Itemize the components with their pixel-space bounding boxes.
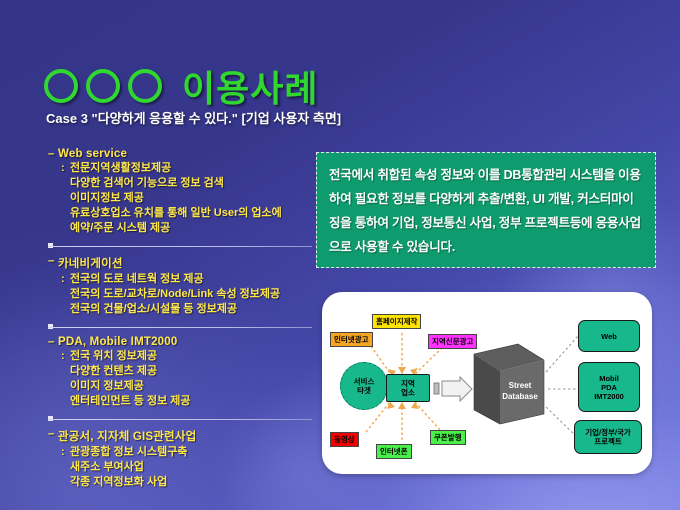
bullet-line: 예약/주문 시스템 제공 <box>48 221 316 236</box>
bullet-line: 유료상호업소 유치를 통해 일반 User의 업소에 <box>48 206 316 221</box>
slide-canvas: 이용사례 Case 3 "다양하게 응용할 수 있다." [기업 사용자 측면]… <box>0 0 680 510</box>
bullet-line: 다양한 검색어 기능으로 정보 검색 <box>48 176 316 191</box>
bullet-group-web-service: Web service 전문지역생활정보제공 다양한 검색어 기능으로 정보 검… <box>48 148 316 236</box>
bullet-group-car-navigation: 카네비게이션 전국의 도로 네트웍 정보 제공 전국의 도로/교차로/Node/… <box>48 255 316 317</box>
diagram-output-enterprise-gov-project[interactable]: 기업/정부/국가 프로젝트 <box>574 420 642 454</box>
diagram-node-video[interactable]: 동영상 <box>330 432 359 447</box>
bullet-line: 이미지정보 제공 <box>48 191 316 206</box>
bullet-list: Web service 전문지역생활정보제공 다양한 검색어 기능으로 정보 검… <box>48 148 316 493</box>
diagram-node-internet-advertising[interactable]: 인터넷광고 <box>330 332 373 347</box>
diagram-node-local-business[interactable]: 지역 업소 <box>386 374 430 402</box>
bullet-line: 이미지 정보제공 <box>48 379 316 394</box>
bullet-line: 전국의 도로/교차로/Node/Link 속성 정보제공 <box>48 287 316 302</box>
diagram-node-local-newspaper-ad[interactable]: 지역신문광고 <box>428 334 477 349</box>
diagram-node-coupon-issuance[interactable]: 쿠폰발행 <box>430 430 466 445</box>
diagram-node-internet-phone[interactable]: 인터넷폰 <box>376 444 412 459</box>
section-divider <box>48 242 316 251</box>
subtitle-text: Case 3 "다양하게 응용할 수 있다." [기업 사용자 측면] <box>46 108 341 127</box>
diagram-node-service-target[interactable]: 서비스 타겟 <box>340 362 388 410</box>
flow-arrow-icon <box>434 377 472 401</box>
bullet-heading: 관공서, 지자체 GIS관련사업 <box>48 428 316 444</box>
title-text: 이용사례 <box>182 60 318 112</box>
diagram-output-mobile-pda-imt2000[interactable]: Mobil PDA IMT2000 <box>578 362 640 412</box>
divider-line <box>48 246 312 247</box>
bullet-line: 전국의 건물/업소/시설물 등 정보제공 <box>48 302 316 317</box>
divider-line <box>48 327 312 328</box>
title-ring-icon <box>86 69 120 103</box>
bullet-line: 엔터테인먼트 등 정보 제공 <box>48 394 316 409</box>
bullet-heading: 카네비게이션 <box>48 255 316 271</box>
architecture-diagram: Street Database 홈페이지제작 인터넷광고 지역신문광고 동영상 … <box>322 292 652 474</box>
section-divider <box>48 415 316 424</box>
bullet-line: 전국 위치 정보제공 <box>48 349 316 364</box>
bullet-group-gis-public: 관공서, 지자체 GIS관련사업 관광종합 정보 시스템구축 새주소 부여사업 … <box>48 428 316 490</box>
bullet-group-pda-mobile: PDA, Mobile IMT2000 전국 위치 정보제공 다양한 컨텐츠 제… <box>48 336 316 409</box>
title-ring-icon <box>44 69 78 103</box>
section-divider <box>48 323 316 332</box>
info-callout-box: 전국에서 취합된 속성 정보와 이를 DB통합관리 시스템을 이용하여 필요한 … <box>316 152 656 268</box>
bullet-line: 각종 지역정보화 사업 <box>48 475 316 490</box>
diagram-output-web[interactable]: Web <box>578 320 640 352</box>
bullet-line: 전국의 도로 네트웍 정보 제공 <box>48 272 316 287</box>
divider-line <box>48 419 312 420</box>
bullet-line: 관광종합 정보 시스템구축 <box>48 445 316 460</box>
title-ring-icon <box>128 69 162 103</box>
bullet-heading: PDA, Mobile IMT2000 <box>48 336 316 348</box>
bullet-heading: Web service <box>48 148 316 160</box>
page-title: 이용사례 <box>44 60 318 112</box>
bullet-line: 새주소 부여사업 <box>48 460 316 475</box>
bullet-line: 다양한 컨텐츠 제공 <box>48 364 316 379</box>
bullet-line: 전문지역생활정보제공 <box>48 161 316 176</box>
street-database-cube-icon <box>474 344 544 424</box>
diagram-node-homepage-production[interactable]: 홈페이지제작 <box>372 314 421 329</box>
